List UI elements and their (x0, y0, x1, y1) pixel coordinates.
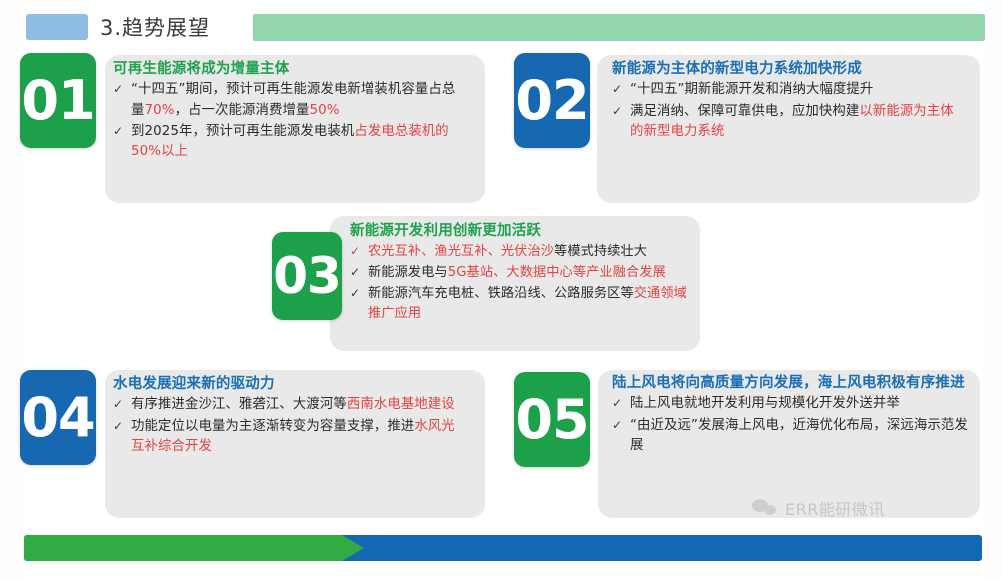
bullet-text: 新能源汽车充电桩、铁路沿线、公路服务区等 (368, 286, 634, 301)
bullet-text: 新能源发电与 (368, 265, 448, 280)
badge-02: 02 (514, 53, 590, 148)
badge-05-number: 05 (515, 393, 588, 447)
card-05-bullets: ✓陆上风电就地开发利用与规模化开发外送并举✓“由近及远”发展海上风电，近海优化布… (612, 394, 970, 456)
bullet-item: ✓“十四五”期间，预计可再生能源发电新增装机容量占总量70%，占一次能源消费增量… (113, 80, 458, 121)
card-05-title: 陆上风电将向高质量方向发展，海上风电积极有序推进 (612, 374, 970, 392)
check-icon: ✓ (113, 80, 123, 98)
check-icon: ✓ (350, 284, 360, 302)
header-blue-block (26, 14, 88, 40)
badge-05: 05 (514, 372, 590, 467)
check-icon: ✓ (350, 242, 360, 260)
wechat-icon (752, 498, 778, 519)
bullet-text: “十四五”期新能源开发和消纳大幅度提升 (630, 82, 873, 97)
badge-04-number: 04 (21, 391, 94, 445)
bullet-item: ✓“由近及远”发展海上风电，近海优化布局，深远海示范发展 (612, 416, 970, 457)
footer-arrow-icon (342, 535, 364, 561)
watermark: ERR能研微讯 (752, 496, 885, 520)
check-icon: ✓ (113, 122, 123, 140)
badge-03-number: 03 (273, 251, 341, 301)
check-icon: ✓ (612, 394, 622, 412)
card-04-title: 水电发展迎来新的驱动力 (113, 375, 458, 393)
card-content-02: 新能源为主体的新型电力系统加快形成 ✓“十四五”期新能源开发和消纳大幅度提升✓满… (612, 60, 967, 143)
bullet-highlight-text: 70% (145, 103, 175, 118)
card-01-title: 可再生能源将成为增量主体 (113, 60, 458, 78)
card-02-title: 新能源为主体的新型电力系统加快形成 (612, 60, 967, 78)
page-edge-right (985, 0, 1003, 579)
check-icon: ✓ (113, 417, 123, 435)
footer-bar (24, 535, 982, 561)
card-content-01: 可再生能源将成为增量主体 ✓“十四五”期间，预计可再生能源发电新增装机容量占总量… (113, 60, 458, 164)
bullet-item: ✓农光互补、渔光互补、光伏治沙等模式持续壮大 (350, 242, 695, 262)
badge-04: 04 (20, 370, 96, 465)
bullet-text: 有序推进金沙江、雅砻江、大渡河等 (131, 397, 347, 412)
card-01-bullets: ✓“十四五”期间，预计可再生能源发电新增装机容量占总量70%，占一次能源消费增量… (113, 80, 458, 163)
bullet-text: 满足消纳、保障可靠供电，应加快构建 (630, 104, 859, 119)
check-icon: ✓ (612, 102, 622, 120)
card-02-bullets: ✓“十四五”期新能源开发和消纳大幅度提升✓满足消纳、保障可靠供电，应加快构建以新… (612, 80, 967, 142)
page-title: 3.趋势展望 (100, 12, 210, 42)
card-content-04: 水电发展迎来新的驱动力 ✓有序推进金沙江、雅砻江、大渡河等西南水电基地建设✓功能… (113, 375, 458, 458)
bullet-item: ✓新能源汽车充电桩、铁路沿线、公路服务区等交通领域推广应用 (350, 284, 695, 324)
check-icon: ✓ (350, 263, 360, 281)
bullet-item: ✓到2025年，预计可再生能源发电装机占发电总装机的50%以上 (113, 122, 458, 163)
bullet-text: 等模式持续壮大 (554, 244, 647, 259)
card-content-05: 陆上风电将向高质量方向发展，海上风电积极有序推进 ✓陆上风电就地开发利用与规模化… (612, 374, 970, 457)
bullet-highlight-text: 农光互补、渔光互补、光伏治沙 (368, 244, 554, 259)
bullet-item: ✓满足消纳、保障可靠供电，应加快构建以新能源为主体的新型电力系统 (612, 102, 967, 143)
bullet-text: ，占一次能源消费增量 (175, 103, 310, 118)
check-icon: ✓ (612, 80, 622, 98)
bullet-highlight-text: 西南水电基地建设 (347, 397, 455, 412)
bullet-text: 陆上风电就地开发利用与规模化开发外送并举 (630, 396, 900, 411)
watermark-text: ERR能研微讯 (785, 496, 885, 520)
badge-01: 01 (20, 53, 96, 148)
slide-root: 3.趋势展望 01 02 03 04 05 可再生能源将成为增量主体 ✓“十四五… (0, 0, 1003, 579)
check-icon: ✓ (113, 395, 123, 413)
card-content-03: 新能源开发利用创新更加活跃 ✓农光互补、渔光互补、光伏治沙等模式持续壮大✓新能源… (350, 222, 695, 325)
bullet-item: ✓功能定位以电量为主逐渐转变为容量支撑，推进水风光互补综合开发 (113, 417, 458, 458)
card-03-bullets: ✓农光互补、渔光互补、光伏治沙等模式持续壮大✓新能源发电与5G基站、大数据中心等… (350, 242, 695, 324)
card-03-title: 新能源开发利用创新更加活跃 (350, 222, 695, 240)
check-icon: ✓ (612, 416, 622, 434)
bullet-item: ✓新能源发电与5G基站、大数据中心等产业融合发展 (350, 263, 695, 283)
bullet-text: 功能定位以电量为主逐渐转变为容量支撑，推进 (131, 419, 414, 434)
badge-01-number: 01 (21, 74, 94, 128)
bullet-item: ✓“十四五”期新能源开发和消纳大幅度提升 (612, 80, 967, 100)
bullet-item: ✓有序推进金沙江、雅砻江、大渡河等西南水电基地建设 (113, 395, 458, 415)
bullet-highlight-text: 50% (309, 103, 339, 118)
bullet-text: “由近及远”发展海上风电，近海优化布局，深远海示范发展 (630, 418, 968, 453)
footer-green-segment (24, 535, 342, 561)
header-green-bar (253, 14, 985, 41)
badge-02-number: 02 (515, 74, 588, 128)
badge-03: 03 (272, 232, 342, 320)
card-04-bullets: ✓有序推进金沙江、雅砻江、大渡河等西南水电基地建设✓功能定位以电量为主逐渐转变为… (113, 395, 458, 457)
bullet-item: ✓陆上风电就地开发利用与规模化开发外送并举 (612, 394, 970, 414)
bullet-highlight-text: 5G基站、大数据中心等产业融合发展 (448, 265, 666, 280)
bullet-text: 到2025年，预计可再生能源发电装机 (131, 124, 354, 139)
